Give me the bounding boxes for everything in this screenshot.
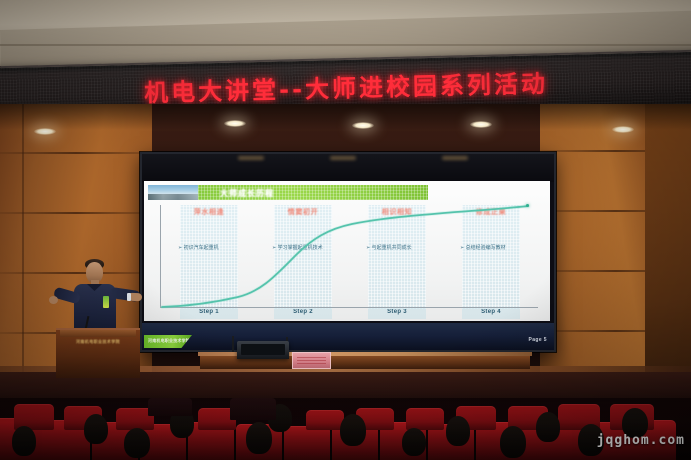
podium-front-band xyxy=(60,330,136,337)
screen-top-bezel xyxy=(142,154,554,182)
table-microphone xyxy=(232,336,234,352)
step-label-2: Step 2 xyxy=(274,309,332,315)
wall-top-shadow xyxy=(0,104,691,130)
audience-head xyxy=(84,414,108,444)
slide-footer-bar: Page 5 xyxy=(142,323,554,350)
growth-s-curve xyxy=(150,203,544,318)
campus-photo-thumbnail-icon xyxy=(148,185,198,200)
step-label-4: Step 4 xyxy=(462,309,520,315)
slide-header: 大师成长历程 xyxy=(148,185,546,200)
audience-head xyxy=(340,414,366,446)
laptop xyxy=(237,341,289,359)
slide-logo-label: 河南机电职业技术学院 xyxy=(148,338,190,344)
podium-inscription: 河南机电职业技术学院 xyxy=(62,338,134,345)
ceiling-downlight xyxy=(34,128,56,135)
step-label-3: Step 3 xyxy=(368,309,426,315)
slide-page-number: Page 5 xyxy=(528,337,547,343)
ceiling-downlight xyxy=(352,122,374,129)
audience-head xyxy=(12,426,36,456)
ceiling-downlight xyxy=(470,121,492,128)
audience-head xyxy=(536,412,560,442)
ceiling-seam xyxy=(0,44,691,46)
lecture-hall-photo: 机电大讲堂--大师进校园系列活动 大师成 xyxy=(0,0,691,460)
audience-head xyxy=(402,428,426,456)
speaker-wristwatch xyxy=(127,293,131,301)
audience-head xyxy=(246,422,272,454)
speaker-left-hand xyxy=(49,296,58,304)
right-wall-return xyxy=(645,104,691,404)
slide-title: 大师成长历程 xyxy=(220,188,274,199)
slide-title-bar: 大师成长历程 xyxy=(198,185,428,200)
presentation-slide: 大师成长历程 萍水相逢 情窦初开 相识相知 修成正果 ➢ 初识汽车起重机 ➢ 学… xyxy=(144,181,550,321)
growth-curve-chart: 萍水相逢 情窦初开 相识相知 修成正果 ➢ 初识汽车起重机 ➢ 学习掌握起重机技… xyxy=(150,203,544,318)
ceiling-downlight xyxy=(612,126,634,133)
audience-head xyxy=(446,416,470,446)
audience-head xyxy=(124,428,150,458)
step-label-1: Step 1 xyxy=(180,309,238,315)
curve-end-marker xyxy=(526,204,529,207)
audience-seating: jqghom.com xyxy=(0,398,691,460)
speaker-lanyard-badge xyxy=(103,296,109,308)
image-watermark: jqghom.com xyxy=(597,433,685,448)
projection-screen: 大师成长历程 萍水相逢 情窦初开 相识相知 修成正果 ➢ 初识汽车起重机 ➢ 学… xyxy=(140,152,556,352)
ceiling-downlight xyxy=(224,120,246,127)
table-placard xyxy=(292,352,331,369)
audience-head xyxy=(500,426,526,458)
